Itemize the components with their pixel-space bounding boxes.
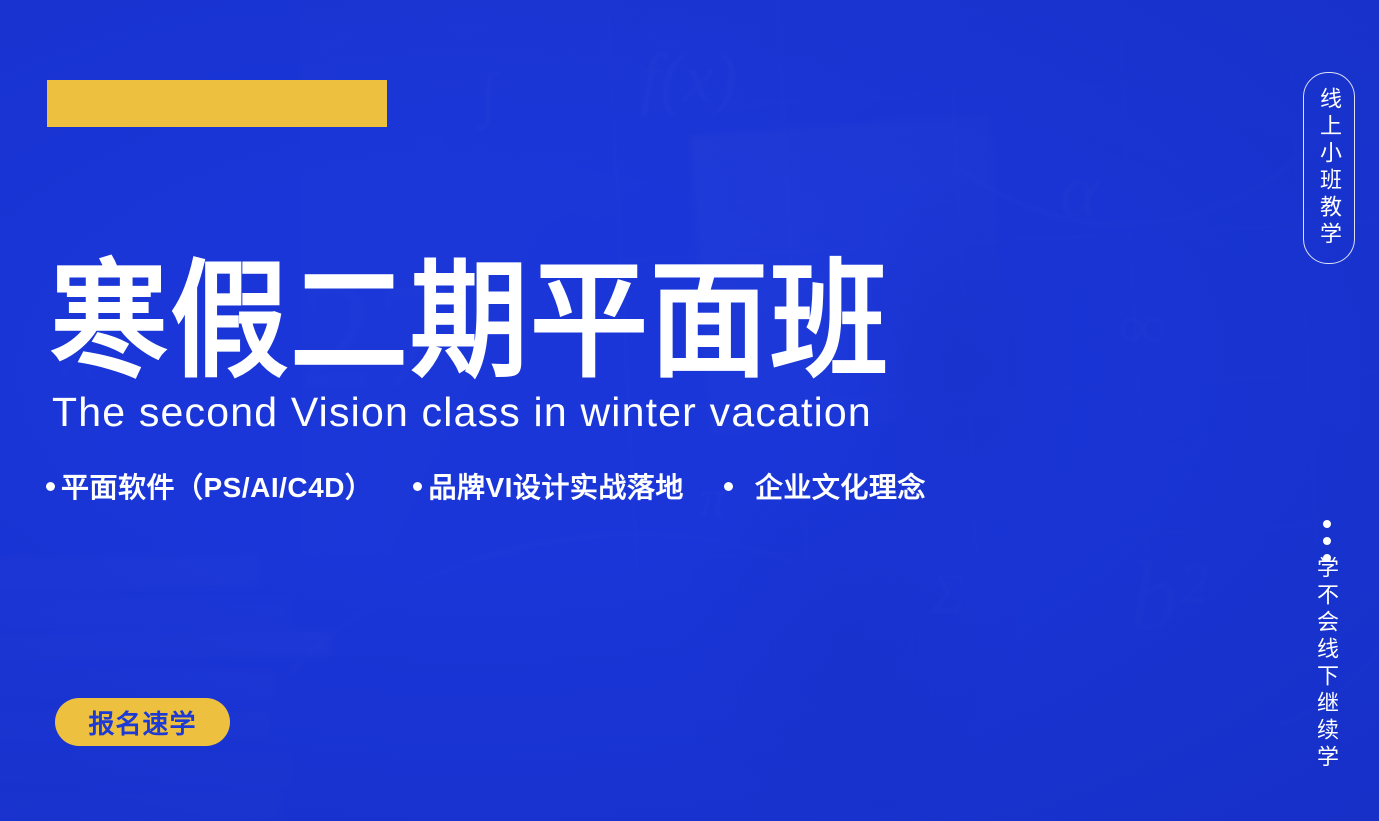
dot-icon xyxy=(1323,537,1331,545)
online-class-badge: 线上小班教学 xyxy=(1303,72,1355,264)
feature-list: 平面软件（PS/AI/C4D） 品牌VI设计实战落地 企业文化理念 xyxy=(46,466,926,506)
enroll-button-label: 报名速学 xyxy=(88,704,196,741)
bullet-dot-icon xyxy=(46,482,55,491)
feature-item-culture: 企业文化理念 xyxy=(724,466,926,506)
page-subtitle: The second Vision class in winter vacati… xyxy=(52,392,872,433)
promo-banner: f(x) α ∞ b² Σ π ∫ λ 27 寒假二期平面班 The secon… xyxy=(0,0,1379,821)
feature-label: 品牌VI设计实战落地 xyxy=(428,466,683,506)
bullet-dot-icon xyxy=(413,482,422,491)
enroll-button[interactable]: 报名速学 xyxy=(55,698,230,746)
banner-content: 寒假二期平面班 The second Vision class in winte… xyxy=(0,0,1379,821)
feature-item-software: 平面软件（PS/AI/C4D） xyxy=(46,466,373,506)
feature-item-brand-vi: 品牌VI设计实战落地 xyxy=(413,466,683,506)
dot-icon xyxy=(1323,520,1331,528)
accent-bar xyxy=(47,80,387,127)
page-title: 寒假二期平面班 xyxy=(50,258,890,385)
feature-label: 平面软件（PS/AI/C4D） xyxy=(61,466,373,506)
feature-label: 企业文化理念 xyxy=(755,466,926,506)
guarantee-slogan: 学不会线下继续学 xyxy=(1315,556,1337,772)
bullet-dot-icon xyxy=(724,482,733,491)
online-class-badge-label: 线上小班教学 xyxy=(1318,87,1340,249)
